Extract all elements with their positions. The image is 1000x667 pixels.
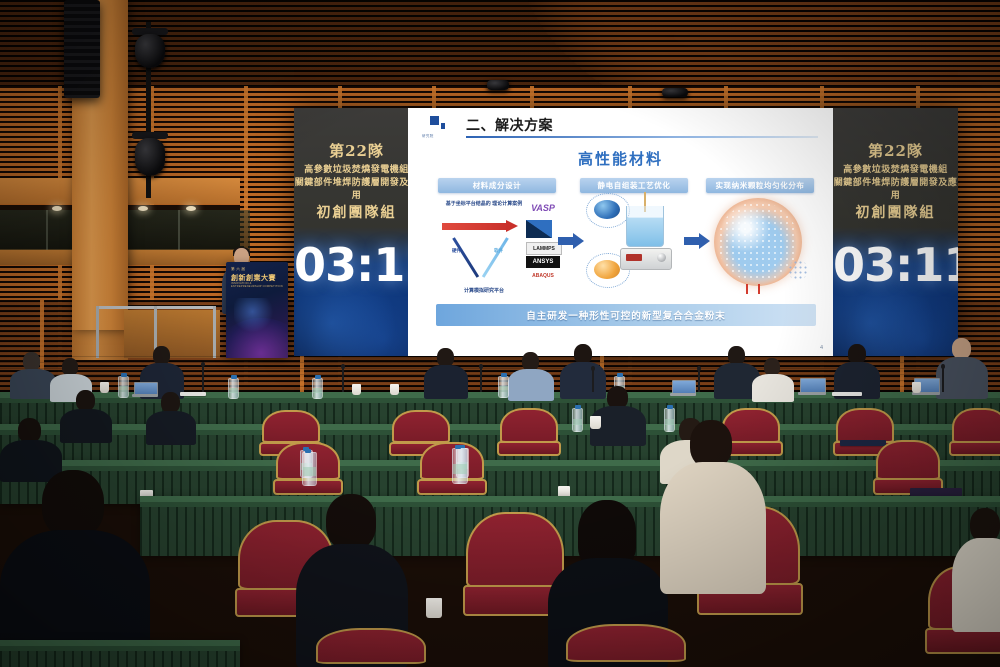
company-logo-icon [430, 116, 450, 134]
step-chip-2: 静电自组装工艺优化 [580, 178, 688, 193]
diagonal-arrow-left-icon [452, 237, 479, 278]
audience-person [424, 348, 468, 398]
category-right: 初創團隊組 [833, 202, 958, 222]
audience-person [0, 418, 62, 478]
beaker-icon [626, 206, 664, 247]
photo-scene: 第22隊 高參數垃圾焚燒發電機組 關鍵部件堆焊防護層開發及應用 初創團隊組 03… [0, 0, 1000, 667]
microphone-stand-icon [342, 368, 344, 392]
step-chip-1: 材料成分设计 [438, 178, 556, 193]
slide-heading: 高性能材料 [408, 148, 833, 169]
water-bottle[interactable] [498, 376, 509, 398]
water-bottle[interactable] [302, 452, 317, 486]
project-title-line1-left: 高參數垃圾焚燒發電機組 [294, 164, 419, 177]
paper-cup[interactable] [590, 416, 601, 429]
water-bottle[interactable] [118, 376, 129, 398]
podium-banner: 第 六 屆 創新創業大賽 INNOVATION & ENTREPRENEURSH… [231, 267, 283, 285]
blue-particle-icon [594, 200, 620, 219]
water-bottle[interactable] [312, 378, 323, 399]
cell1-caption-bottom: 计算模拟研究平台 [444, 288, 524, 295]
audience-person [952, 508, 1000, 628]
title-underline [466, 136, 818, 138]
laptop[interactable] [672, 380, 694, 396]
paper-cup[interactable] [390, 384, 399, 395]
cell1-label-software: 软件 [494, 248, 503, 254]
software-logo-abaqus: ABAQUS [526, 271, 560, 281]
audience-person [590, 386, 646, 444]
chair[interactable] [566, 624, 686, 667]
led-right-info-panel: 第22隊 高參數垃圾焚燒發電機組 關鍵部件堆焊防護層開發及應用 初創團隊組 03… [833, 108, 958, 356]
presentation-slide: 研究院 二、解决方案 高性能材料 材料成分设计 静电自组装工艺优化 实现纳米颗粒… [408, 108, 833, 356]
audience-person [834, 344, 880, 398]
countdown-timer-right: 03:11 [833, 238, 958, 292]
software-logo-ansys: ANSYS [526, 256, 560, 268]
orange-particle-icon [594, 260, 620, 279]
red-arrow-icon [442, 220, 524, 232]
slide-title: 二、解决方案 [466, 115, 553, 135]
cell1-label-hardware: 硬件 [452, 248, 461, 254]
category-left: 初創團隊組 [294, 202, 419, 222]
microphone-stand-icon [202, 366, 204, 392]
led-video-wall: 第22隊 高參數垃圾焚燒發電機組 關鍵部件堆焊防護層開發及應用 初創團隊組 03… [294, 108, 958, 356]
chair[interactable] [316, 628, 426, 667]
bar-chart-icon [526, 220, 552, 238]
diagonal-arrow-right-icon [482, 237, 509, 278]
podium-banner-small: 第 六 屆 [231, 267, 245, 272]
software-logo-vasp: VASP [526, 200, 560, 216]
cell1-caption-top: 基于坐标平台结晶的 理论计算案例 [444, 201, 524, 208]
led-left-info-panel: 第22隊 高參數垃圾焚燒發電機組 關鍵部件堆焊防護層開發及應用 初創團隊組 03… [294, 108, 419, 356]
audience-person [60, 390, 112, 440]
chair[interactable] [952, 408, 1000, 462]
brochure[interactable] [910, 488, 962, 496]
slide-page-number: 4 [820, 345, 823, 351]
project-title-line2-left: 關鍵部件堆焊防護層開發及應用 [294, 177, 419, 203]
audience-person-foreground [0, 470, 150, 667]
step-chip-3: 实现纳米颗粒均匀化分布 [706, 178, 814, 193]
slide-bottom-banner: 自主研发一种形性可控的新型复合合金粉末 [436, 304, 816, 326]
flow-arrow-1-icon [558, 233, 584, 249]
audience-person-seated [660, 420, 766, 590]
logo-caption: 研究院 [422, 134, 434, 139]
water-bottle[interactable] [228, 378, 239, 399]
project-title-line1-right: 高參數垃圾焚燒發電機組 [833, 164, 958, 177]
team-number-left: 第22隊 [294, 140, 419, 161]
paper-cup[interactable] [912, 382, 921, 393]
tick-mark [746, 284, 748, 294]
chair[interactable] [500, 408, 558, 462]
audience-person [508, 352, 554, 400]
project-title-line2-right: 關鍵部件堆焊防護層開發及應用 [833, 177, 958, 203]
tick-mark [758, 284, 760, 294]
line-array-speaker-icon [64, 0, 100, 98]
microphone-stand-icon [942, 368, 944, 392]
countdown-timer-left: 03:11 [294, 238, 419, 292]
team-number-right: 第22隊 [833, 140, 958, 161]
lattice-detail-icon [788, 260, 808, 280]
laptop[interactable] [800, 378, 824, 395]
flow-arrow-2-icon [684, 233, 710, 249]
audience-person [752, 358, 794, 400]
microphone-stand-icon [698, 370, 700, 392]
podium: 第 六 屆 創新創業大賽 INNOVATION & ENTREPRENEURSH… [226, 262, 288, 358]
document-paper[interactable] [832, 392, 862, 396]
audience-person [146, 392, 196, 442]
podium-banner-sub: INNOVATION & ENTREPRENEURSHIP COMPETITIO… [231, 282, 283, 288]
paper-cup[interactable] [352, 384, 361, 395]
audience-table-row5 [0, 640, 240, 667]
microphone-stand-icon [480, 368, 482, 392]
magnetic-stirrer-icon [620, 248, 672, 270]
software-logo-lammps: LAMMPS [526, 242, 562, 255]
water-bottle[interactable] [572, 408, 583, 432]
water-bottle[interactable] [452, 448, 468, 484]
paper-cup[interactable] [426, 598, 442, 618]
